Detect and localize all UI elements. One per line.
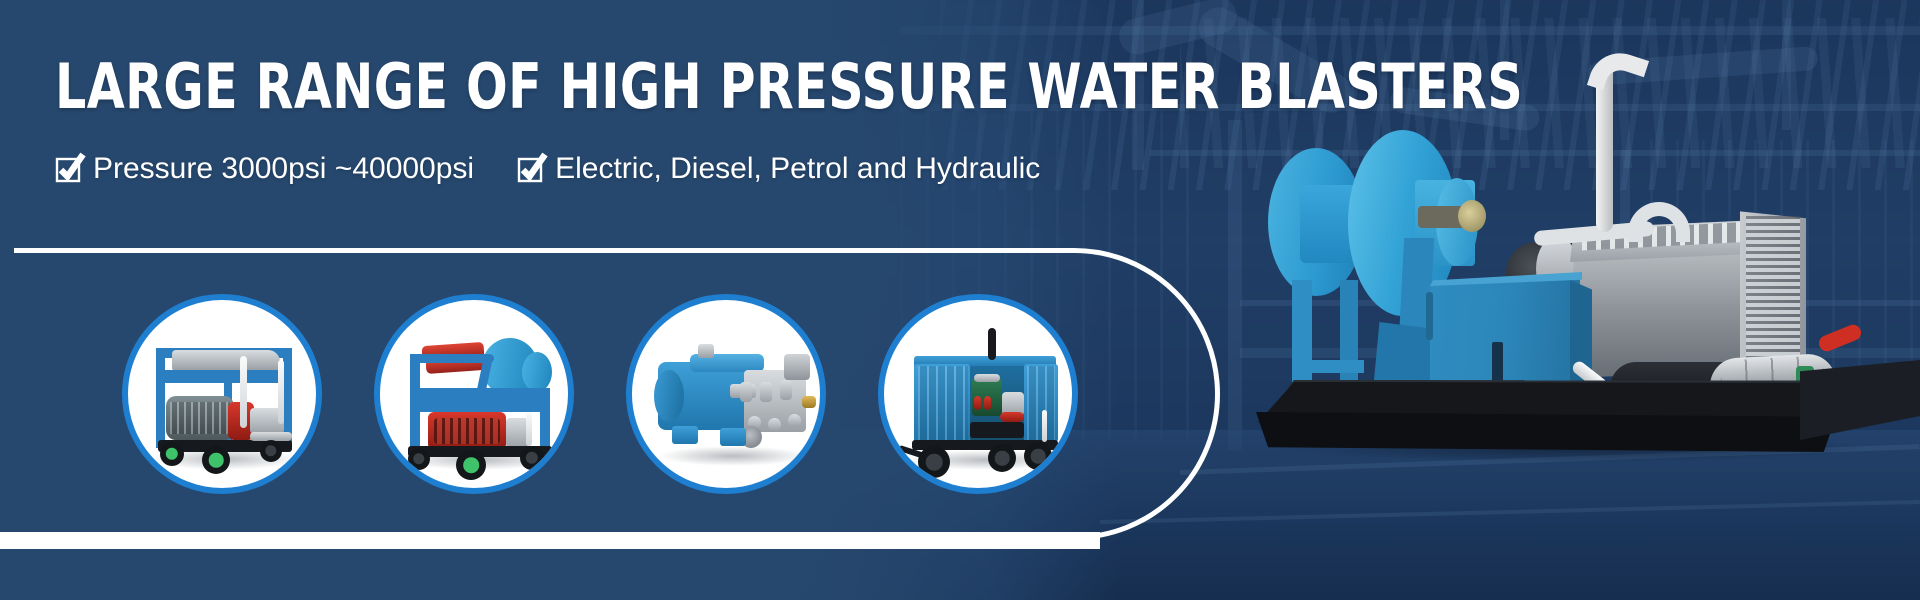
- feature-item-power-types: Electric, Diesel, Petrol and Hydraulic: [516, 152, 1040, 186]
- reel-support-crossbar: [1292, 360, 1364, 373]
- feature-item-pressure: Pressure 3000psi ~40000psi: [54, 152, 474, 186]
- crankcase-end-cover: [654, 370, 684, 422]
- engine-grille: [434, 418, 500, 444]
- frame-post: [156, 348, 165, 448]
- checkbox-checked-icon: [516, 156, 542, 182]
- shadow: [658, 446, 808, 466]
- mounting-foot: [672, 426, 698, 444]
- mounting-foot: [720, 428, 746, 446]
- enclosure-corrugation: [1027, 366, 1055, 440]
- skid-frame-right: [1800, 360, 1920, 440]
- oil-filler-cap: [698, 344, 714, 358]
- hero-banner: LARGE RANGE OF HIGH PRESSURE WATER BLAST…: [0, 0, 1920, 600]
- hose-reel-flange: [522, 352, 552, 392]
- caster-wheel: [408, 448, 430, 470]
- engine-base-frame: [970, 422, 1024, 438]
- trailer-wheel: [918, 446, 950, 478]
- trailer-wheel: [1024, 442, 1052, 470]
- reel-axle-cap: [1458, 200, 1486, 232]
- reel-support-leg: [1340, 280, 1358, 390]
- valve-cap: [760, 382, 772, 402]
- valve-cap: [780, 380, 792, 400]
- reel-support-leg: [1292, 280, 1312, 390]
- wheel: [202, 446, 230, 474]
- relief-valve-handle: [1817, 322, 1864, 353]
- caster-wheel: [160, 442, 184, 466]
- feature-label: Pressure 3000psi ~40000psi: [93, 152, 474, 186]
- water-tank: [172, 350, 280, 370]
- valve-cap: [740, 382, 752, 402]
- enclosure-corrugation: [918, 366, 968, 440]
- product-thumb-electric-motor-water-blaster[interactable]: [122, 294, 322, 494]
- exhaust-stack: [988, 328, 996, 360]
- caster-wheel: [260, 440, 282, 462]
- page-title: LARGE RANGE OF HIGH PRESSURE WATER BLAST…: [55, 56, 1523, 118]
- pill-left-mask: [0, 244, 14, 544]
- product-thumb-trailer-mounted-diesel-unit[interactable]: [878, 294, 1078, 494]
- product-illustration: [128, 300, 316, 488]
- product-thumb-petrol-engine-blaster-with-hose-reel[interactable]: [374, 294, 574, 494]
- trailer-wheel: [988, 444, 1016, 472]
- frame-rail: [410, 354, 494, 363]
- product-illustration: [380, 300, 568, 488]
- radiator-fins: [1746, 216, 1800, 366]
- skid-frame-front: [1256, 412, 1860, 452]
- engine-head: [974, 374, 1000, 382]
- feature-label: Electric, Diesel, Petrol and Hydraulic: [555, 152, 1040, 186]
- cabinet-hinge: [1426, 292, 1433, 340]
- checkbox-checked-icon: [54, 156, 80, 182]
- wheel: [456, 450, 486, 480]
- engine-detail: [974, 396, 981, 410]
- pump-base: [1000, 412, 1024, 422]
- product-illustration: [632, 300, 820, 488]
- wheel: [520, 446, 544, 470]
- feature-list: Pressure 3000psi ~40000psi Electric, Die…: [54, 152, 1040, 186]
- hex-bolt: [768, 418, 781, 431]
- product-thumb-triplex-plunger-pump[interactable]: [626, 294, 826, 494]
- hose: [278, 360, 284, 424]
- engine-detail: [984, 396, 991, 410]
- frame-crossbar: [156, 370, 292, 383]
- hex-bolt: [788, 414, 801, 427]
- brass-fitting: [802, 396, 816, 408]
- product-illustration: [884, 300, 1072, 488]
- hose: [1042, 410, 1047, 442]
- decorative-white-bar: [0, 532, 1100, 549]
- electric-motor: [166, 396, 234, 440]
- hose: [240, 356, 247, 428]
- frame-post: [540, 388, 550, 450]
- lance-tube: [526, 412, 532, 446]
- manifold-port: [784, 354, 810, 380]
- intake-pipe-bend: [1628, 202, 1690, 242]
- pump-head: [506, 418, 528, 448]
